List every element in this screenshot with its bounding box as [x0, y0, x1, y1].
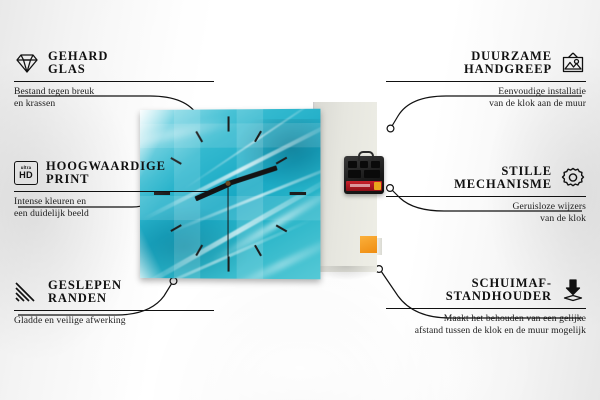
feature-divider [386, 308, 586, 309]
feature-hoogwaardige-print[interactable]: ultra HD HOOGWAARDIGE PRINT Intense kleu… [14, 160, 214, 220]
feature-description: Maakt het behouden van een gelijke afsta… [386, 313, 586, 338]
ultra-hd-icon-large-text: HD [19, 171, 33, 181]
feature-description-line2: en krassen [14, 98, 214, 110]
feature-header: GESLEPEN RANDEN [14, 279, 214, 306]
feature-divider [14, 81, 214, 82]
mechanism-detail [364, 170, 380, 178]
battery-label-stripe [350, 184, 370, 187]
infographic-canvas: GEHARD GLAS Bestand tegen breuk en krass… [0, 0, 600, 400]
mechanism-detail [348, 161, 357, 168]
feature-title-line2: GLAS [48, 63, 108, 76]
feature-title: DUURZAME HANDGREEP [464, 50, 552, 77]
bevelled-edge-icon [14, 280, 40, 304]
feature-description-line2: van de klok [386, 213, 586, 225]
aa-battery [346, 181, 382, 191]
feature-title-line2: PRINT [46, 173, 166, 186]
feature-title-line2: HANDGREEP [464, 63, 552, 76]
feature-title-line1: DUURZAME [471, 50, 552, 63]
feature-description-line1: Maakt het behouden van een gelijke [386, 313, 586, 325]
feature-title-line2: MECHANISME [454, 178, 552, 191]
feature-title-line1: GEHARD [48, 50, 108, 63]
feature-description-line1: Intense kleuren en [14, 196, 214, 208]
mechanism-detail [371, 161, 380, 168]
feature-duurzame-handgreep[interactable]: DUURZAME HANDGREEP Eenvoudige installati… [386, 50, 586, 110]
feature-description: Intense kleuren en een duidelijk beeld [14, 196, 214, 221]
mechanism-detail [360, 161, 368, 168]
feature-title-line2: RANDEN [48, 292, 122, 305]
feature-title: HOOGWAARDIGE PRINT [46, 160, 166, 187]
wall-panel-ground-shadow [311, 266, 381, 280]
feature-description-line2: afstand tussen de klok en de muur mogeli… [386, 325, 586, 337]
gear-icon [560, 166, 586, 190]
feature-description: Geruisloze wijzers van de klok [386, 201, 586, 226]
hanging-picture-frame-icon [560, 51, 586, 75]
feature-header: SCHUIMAF- STANDHOUDER [386, 277, 586, 304]
feature-geslepen-randen[interactable]: GESLEPEN RANDEN Gladde en veilige afwerk… [14, 279, 214, 327]
diamond-icon [14, 51, 40, 75]
feature-divider [14, 310, 214, 311]
clock-mechanism-box [344, 156, 384, 194]
foam-spacer-side [377, 238, 382, 255]
battery-positive-terminal [374, 182, 381, 190]
feature-description-line1: Bestand tegen breuk [14, 86, 214, 98]
foam-spacer-pad [360, 236, 377, 253]
connector-node-handgreep [387, 125, 394, 132]
feature-title-line1: SCHUIMAF- [472, 277, 552, 290]
feature-header: STILLE MECHANISME [386, 165, 586, 192]
feature-description-line2: een duidelijk beeld [14, 208, 214, 220]
feature-divider [386, 196, 586, 197]
feature-title: STILLE MECHANISME [454, 165, 552, 192]
feature-title: GEHARD GLAS [48, 50, 108, 77]
feature-description: Eenvoudige installatie van de klok aan d… [386, 86, 586, 111]
feature-title: SCHUIMAF- STANDHOUDER [446, 277, 552, 304]
feature-stille-mechanisme[interactable]: STILLE MECHANISME Geruisloze wijzers van… [386, 165, 586, 225]
feature-description-line1: Eenvoudige installatie [386, 86, 586, 98]
feature-title-line1: STILLE [501, 165, 552, 178]
feature-header: GEHARD GLAS [14, 50, 214, 77]
feature-title: GESLEPEN RANDEN [48, 279, 122, 306]
feature-header: DUURZAME HANDGREEP [386, 50, 586, 77]
feature-header: ultra HD HOOGWAARDIGE PRINT [14, 160, 214, 187]
feature-divider [14, 191, 214, 192]
feature-description: Gladde en veilige afwerking [14, 315, 214, 327]
stack-down-arrow-icon [560, 278, 586, 302]
feature-description-line2: van de klok aan de muur [386, 98, 586, 110]
feature-schuimafstandhouder[interactable]: SCHUIMAF- STANDHOUDER Maakt het behouden… [386, 277, 586, 337]
ultra-hd-icon: ultra HD [14, 161, 38, 185]
mechanism-detail [348, 170, 361, 178]
feature-title-line2: STANDHOUDER [446, 290, 552, 303]
feature-title-line1: GESLEPEN [48, 279, 122, 292]
feature-description: Bestand tegen breuk en krassen [14, 86, 214, 111]
feature-description-line1: Gladde en veilige afwerking [14, 315, 214, 327]
mechanism-hanger-hook [358, 151, 374, 161]
feature-description-line1: Geruisloze wijzers [386, 201, 586, 213]
feature-title-line1: HOOGWAARDIGE [46, 160, 166, 173]
feature-gehard-glas[interactable]: GEHARD GLAS Bestand tegen breuk en krass… [14, 50, 214, 110]
feature-divider [386, 81, 586, 82]
